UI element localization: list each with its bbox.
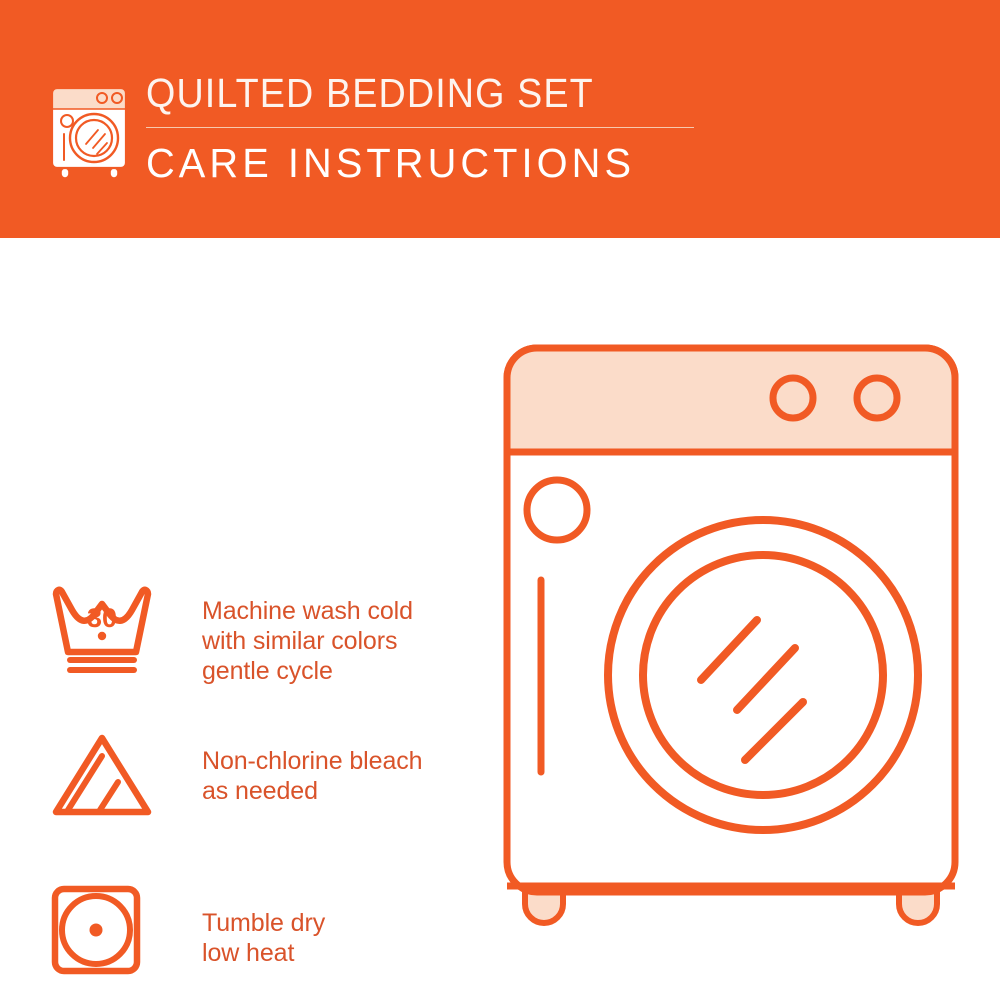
- title-divider: [146, 127, 694, 128]
- care-item-bleach-label: Non-chlorine bleach as needed: [202, 746, 422, 806]
- tumble-dry-low-heat-icon: [48, 882, 144, 978]
- care-line: as needed: [202, 776, 422, 806]
- header-title-group: QUILTED BEDDING SET CARE INSTRUCTIONS: [146, 70, 866, 187]
- care-line: with similar colors: [202, 626, 413, 656]
- care-line: Machine wash cold: [202, 596, 413, 626]
- care-item-tumble-dry-label: Tumble dry low heat: [202, 908, 325, 968]
- care-line: Non-chlorine bleach: [202, 746, 422, 776]
- front-load-washing-machine-illustration: [495, 330, 975, 930]
- care-item-wash-label: Machine wash cold with similar colors ge…: [202, 596, 413, 686]
- washing-machine-icon: [44, 72, 140, 180]
- care-line: gentle cycle: [202, 656, 413, 686]
- non-chlorine-bleach-icon: [48, 730, 156, 820]
- care-instruction-list: 30 Machine wash cold with similar colors…: [0, 238, 490, 1000]
- page-subtitle: CARE INSTRUCTIONS: [146, 139, 844, 187]
- wash-temperature-label: 30: [87, 603, 117, 633]
- machine-wash-cold-gentle-icon: 30: [48, 580, 156, 676]
- header-banner: QUILTED BEDDING SET CARE INSTRUCTIONS: [0, 0, 1000, 238]
- care-line: Tumble dry: [202, 908, 325, 938]
- care-instructions-page: QUILTED BEDDING SET CARE INSTRUCTIONS 30: [0, 0, 1000, 1000]
- care-line: low heat: [202, 938, 325, 968]
- page-title: QUILTED BEDDING SET: [146, 70, 808, 116]
